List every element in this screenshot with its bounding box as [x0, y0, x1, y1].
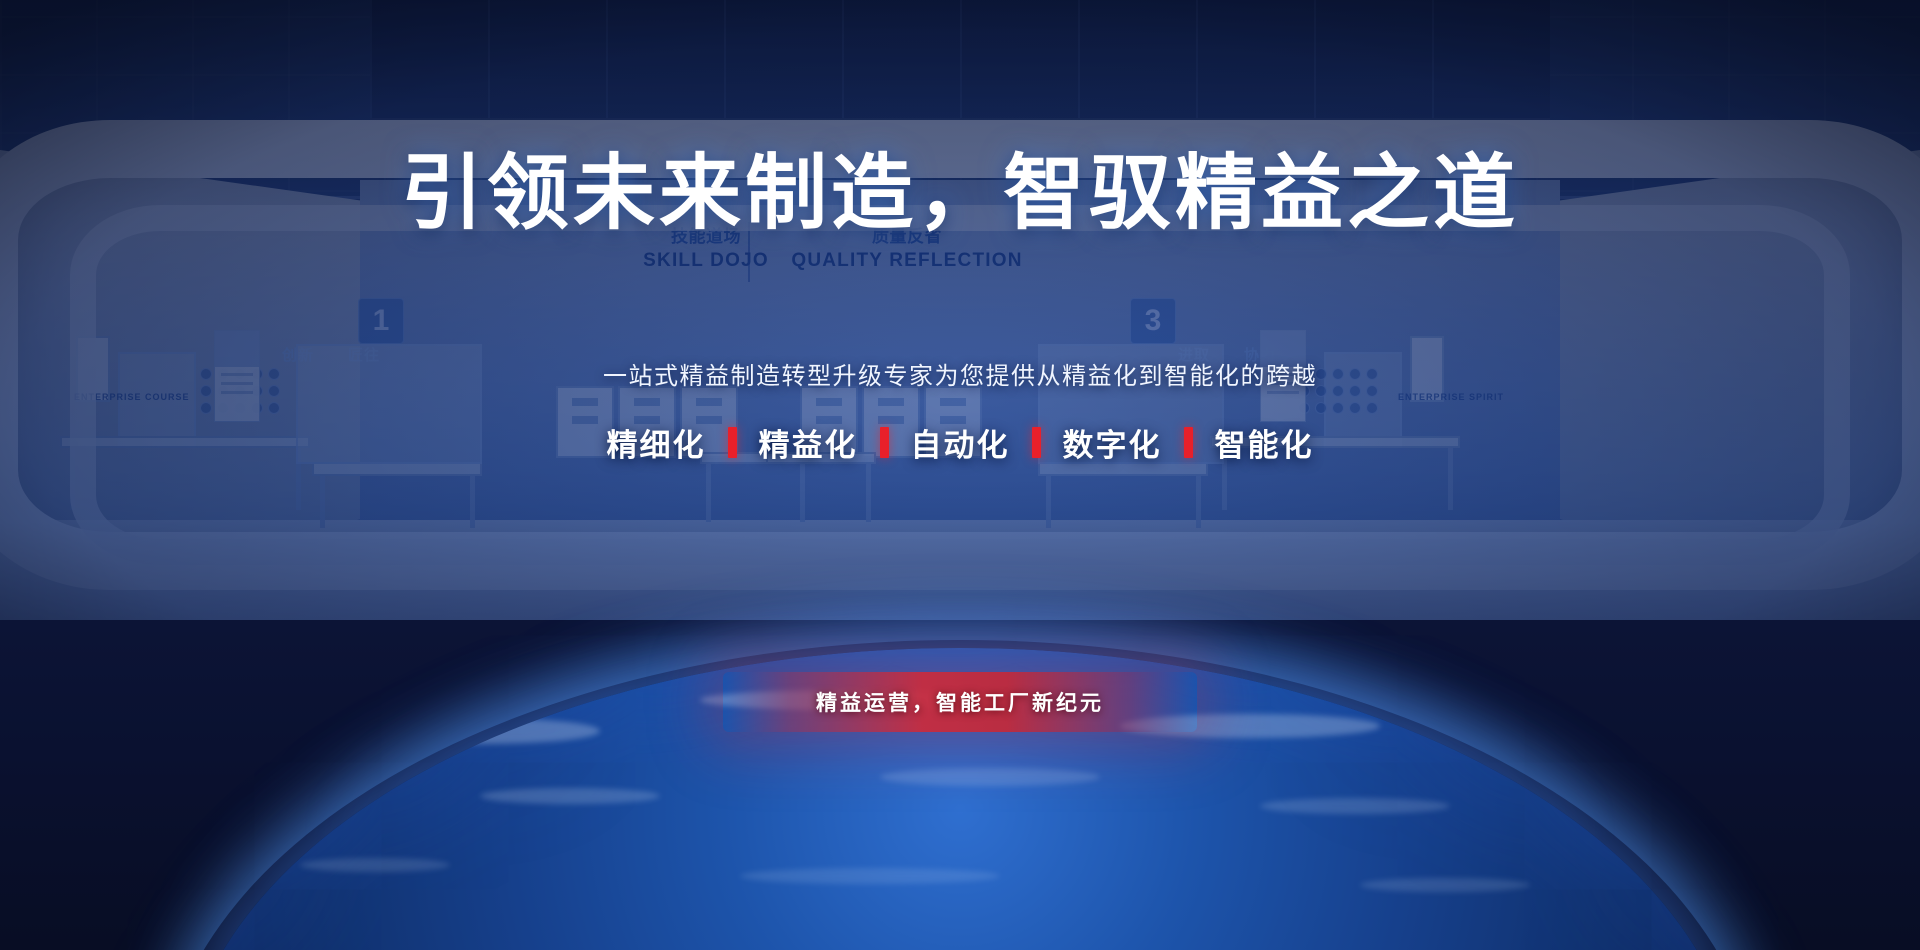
keyword-item: 数字化 [1063, 420, 1162, 465]
page-title: 引领未来制造，智驭精益之道 [0, 126, 1920, 245]
tagline-text: 精益运营，智能工厂新纪元 [816, 687, 1104, 717]
tagline-banner: 精益运营，智能工厂新纪元 [723, 672, 1197, 732]
hero-content: 引领未来制造，智驭精益之道 一站式精益制造转型升级专家为您提供从精益化到智能化的… [0, 0, 1920, 950]
keyword-separator-icon [1184, 427, 1193, 458]
keyword-item: 自动化 [911, 420, 1010, 465]
keyword-list: 精细化 精益化 自动化 数字化 智能化 [0, 420, 1920, 465]
keyword-item: 精细化 [607, 420, 706, 465]
keyword-separator-icon [728, 427, 737, 458]
keyword-item: 精益化 [759, 420, 858, 465]
keyword-item: 智能化 [1215, 420, 1314, 465]
keyword-separator-icon [1032, 427, 1041, 458]
keyword-separator-icon [880, 427, 889, 458]
hero-subtitle: 一站式精益制造转型升级专家为您提供从精益化到智能化的跨越 [0, 356, 1920, 391]
hero-banner: 技能道场 SKILL DOJO 质量反省 QUALITY REFLECTION … [0, 0, 1920, 950]
